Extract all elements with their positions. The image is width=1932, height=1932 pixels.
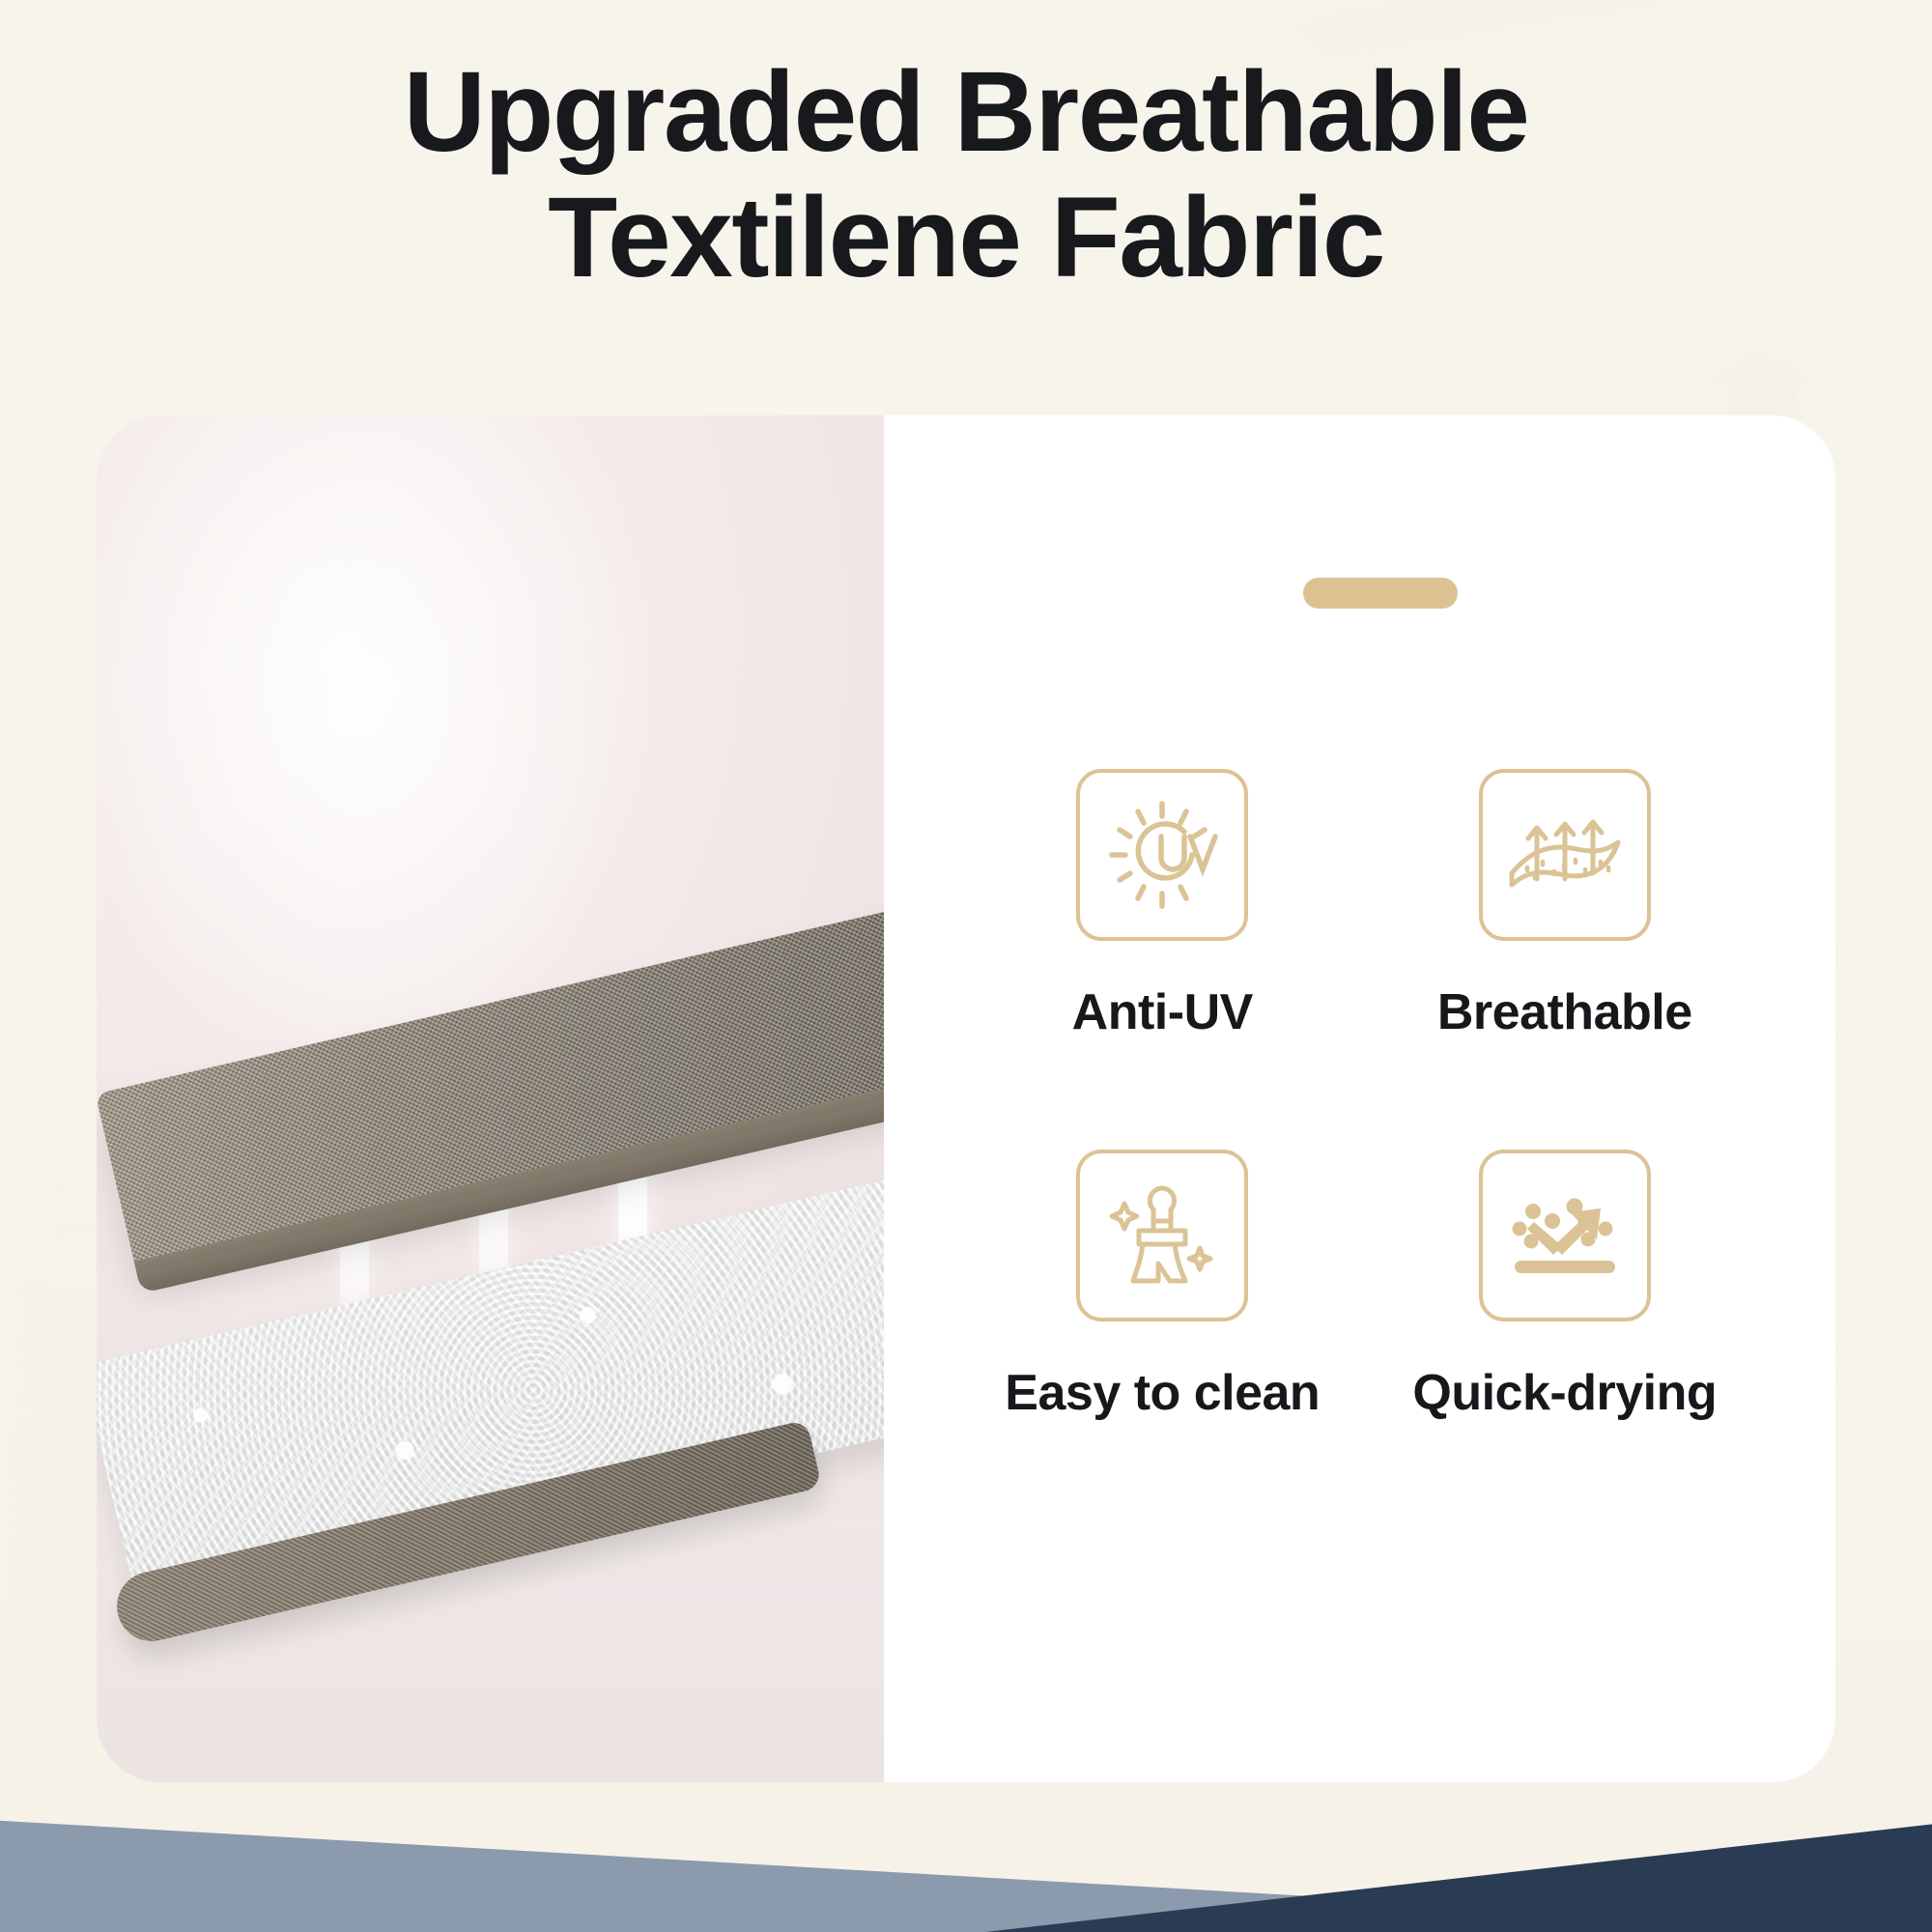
gold-accent-bar — [1303, 578, 1458, 609]
feature-label: Quick-drying — [1412, 1364, 1717, 1422]
bottom-decoration-band — [0, 1758, 1932, 1932]
band-triangle-light — [0, 1758, 1932, 1932]
background-lamp-icon — [1700, 359, 1824, 388]
feature-item-anti-uv[interactable]: Anti-UV — [984, 769, 1341, 1041]
water-bounce-droplets-icon — [1479, 1150, 1651, 1321]
uv-sun-icon — [1076, 769, 1248, 941]
product-image-panel — [97, 415, 884, 1782]
feature-label: Easy to clean — [1005, 1364, 1320, 1422]
feature-label: Breathable — [1437, 983, 1692, 1041]
feature-item-easy-to-clean[interactable]: Easy to clean — [984, 1150, 1341, 1422]
band-triangle-navy — [0, 1758, 1932, 1932]
page-title: Upgraded Breathable Textilene Fabric — [0, 50, 1932, 301]
breathable-fabric-arrows-icon — [1479, 769, 1651, 941]
feature-item-quick-drying[interactable]: Quick-drying — [1387, 1150, 1744, 1422]
feature-card: Anti-UV — [97, 415, 1835, 1782]
feature-grid: Anti-UV — [984, 769, 1743, 1422]
features-panel: Anti-UV — [884, 415, 1835, 1782]
feature-item-breathable[interactable]: Breathable — [1387, 769, 1744, 1041]
cleaning-brush-sparkle-icon — [1076, 1150, 1248, 1321]
feature-label: Anti-UV — [1072, 983, 1253, 1041]
infographic-canvas: Upgraded Breathable Textilene Fabric — [0, 0, 1932, 1932]
